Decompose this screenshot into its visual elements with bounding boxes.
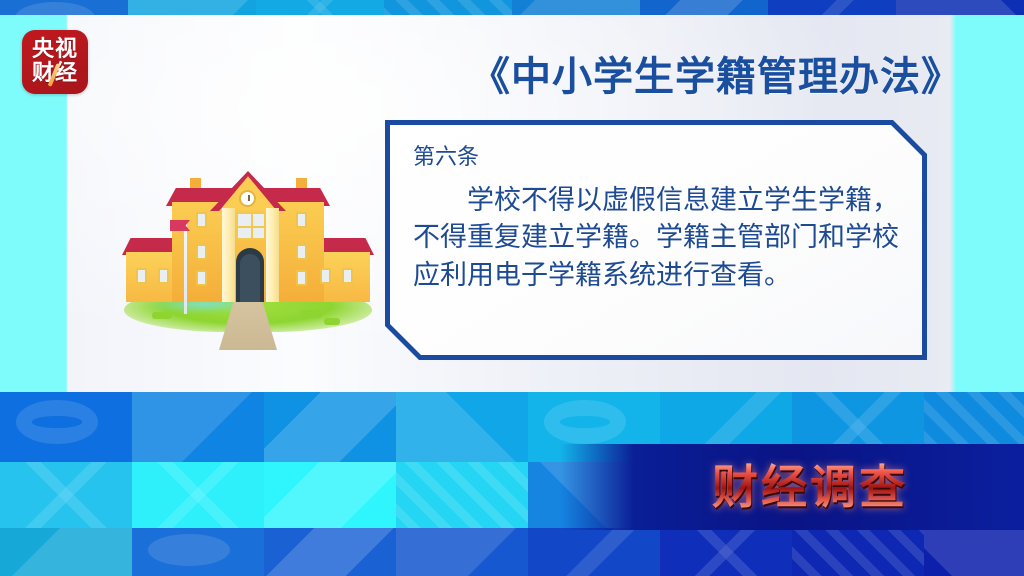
mosaic-tile — [0, 392, 132, 462]
mosaic-tile — [256, 0, 384, 15]
card-text-block: 第六条 学校不得以虚假信息建立学生学籍，不得重复建立学籍。学籍主管部门和学校应利… — [413, 144, 901, 295]
mosaic-tile — [768, 0, 896, 15]
bush-shape — [152, 312, 172, 319]
article-body: 学校不得以虚假信息建立学生学籍，不得重复建立学籍。学籍主管部门和学校应利用电子学… — [413, 182, 901, 295]
window — [320, 268, 331, 284]
article-heading: 第六条 — [413, 144, 901, 172]
school-building-illustration — [118, 160, 378, 360]
bush-shape — [324, 318, 340, 325]
mosaic-tile — [512, 0, 640, 15]
mosaic-tile — [264, 528, 396, 576]
mosaic-tile — [384, 0, 512, 15]
bush-shape — [300, 310, 322, 318]
window — [296, 212, 307, 228]
mosaic-tile — [132, 462, 264, 528]
window — [158, 268, 169, 284]
mosaic-tile — [396, 462, 528, 528]
window — [196, 270, 207, 286]
page-title: 《中小学生学籍管理办法》 — [470, 44, 950, 102]
mosaic-tile — [132, 392, 264, 462]
cctv-finance-logo: 央视 财经 — [22, 30, 88, 94]
logo-line-1: 央视 — [32, 39, 78, 61]
mosaic-tile — [792, 528, 924, 576]
regulation-quote-card: 第六条 学校不得以虚假信息建立学生学籍，不得重复建立学籍。学籍主管部门和学校应利… — [385, 120, 927, 360]
window — [196, 212, 207, 228]
mosaic-tile — [264, 392, 396, 462]
mosaic-tile — [640, 0, 768, 15]
column-left — [222, 208, 235, 302]
mosaic-tile — [924, 528, 1024, 576]
mosaic-tile — [128, 0, 256, 15]
column-right — [266, 208, 279, 302]
window — [296, 270, 307, 286]
mosaic-tile — [264, 462, 396, 528]
window-main — [236, 212, 266, 240]
flag-pole — [184, 222, 187, 314]
mosaic-tile — [396, 528, 528, 576]
show-title-text: 财经调查 — [660, 456, 960, 518]
mosaic-tile — [0, 0, 128, 15]
window — [196, 244, 207, 260]
window — [342, 268, 353, 284]
mosaic-tile — [528, 528, 660, 576]
mosaic-tile — [0, 462, 132, 528]
mosaic-tile — [0, 528, 132, 576]
entrance-door-inner — [240, 254, 260, 302]
mosaic-tile — [132, 528, 264, 576]
window — [136, 268, 147, 284]
clock-icon — [239, 190, 256, 207]
mosaic-tile — [896, 0, 1024, 15]
window — [296, 244, 307, 260]
mosaic-tile — [660, 528, 792, 576]
broadcast-screen: 央视 财经 《中小学生学籍管理办法》 — [0, 0, 1024, 576]
mosaic-tile — [396, 392, 528, 462]
